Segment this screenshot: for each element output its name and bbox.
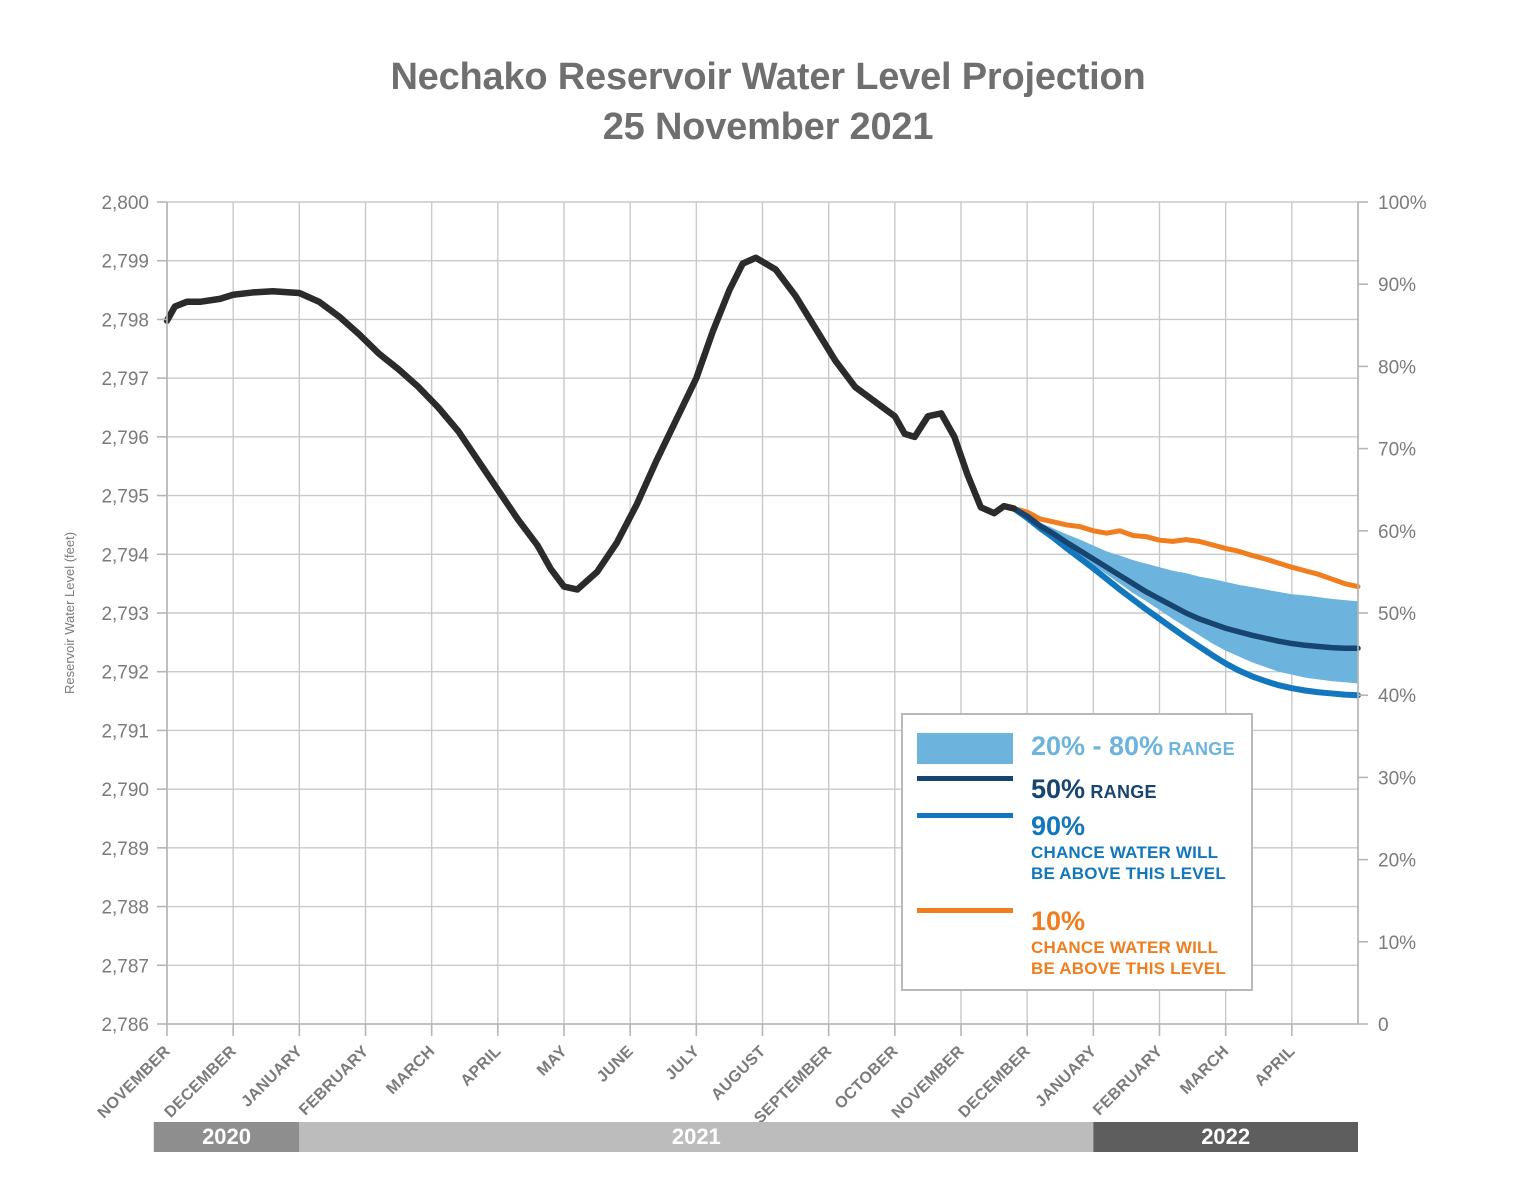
legend-item-chance-90: 90%CHANCE WATER WILLBE ABOVE THIS LEVEL [903,813,1251,884]
y-axis-tick-label-right: 10% [1378,933,1416,954]
x-axis-month-label: APRIL [1252,1043,1299,1090]
y-axis-tick-label-left: 2,790 [101,780,149,801]
y-axis-tick-label-right: 20% [1378,851,1416,872]
y-axis-title: Reservoir Water Level (feet) [62,532,77,694]
x-axis-month-label: MARCH [383,1043,438,1098]
legend-sub-chance-90-1: BE ABOVE THIS LEVEL [1031,864,1226,885]
x-axis-month-label: JANUARY [238,1043,306,1111]
y-axis-tick-label-left: 2,786 [101,1015,149,1036]
y-axis-tick-label-right: 100% [1378,193,1427,214]
y-axis-tick-label-left: 2,794 [101,545,149,566]
legend-item-range-50: 50% RANGE [903,776,1251,803]
y-axis-tick-label-right: 30% [1378,768,1416,789]
y-axis-tick-label-left: 2,793 [101,604,149,625]
y-axis-tick-label-right: 50% [1378,604,1416,625]
y-axis-tick-label-left: 2,789 [101,839,149,860]
y-axis-tick-label-right: 90% [1378,275,1416,296]
y-axis-tick-label-right: 60% [1378,522,1416,543]
legend-swatch-chance-90 [917,813,1025,818]
legend-sub-chance-10-1: BE ABOVE THIS LEVEL [1031,959,1226,980]
legend-swatch-range-50 [917,776,1025,781]
year-bar-label: 2020 [202,1124,251,1149]
legend-head-chance-90: 90% [1031,813,1226,840]
y-axis-tick-label-left: 2,795 [101,487,149,508]
x-axis-month-label: JULY [662,1043,703,1084]
legend-head-main: 50% [1031,774,1085,804]
band-swatch-icon [917,733,1013,764]
legend-swatch-chance-10 [917,908,1025,913]
y-axis-tick-label-left: 2,791 [101,721,149,742]
x-axis-month-label: FEBRUARY [1090,1043,1166,1119]
y-axis-tick-label-right: 0 [1378,1015,1389,1036]
legend-swatch-range-20-80 [917,733,1025,764]
chart-root: Nechako Reservoir Water Level Projection… [0,0,1536,1187]
legend-text-range-50: 50% RANGE [1025,776,1157,803]
chart-title: Nechako Reservoir Water Level Projection… [0,52,1536,152]
legend-head-range-20-80: 20% - 80% RANGE [1031,733,1235,760]
chart-legend: 20% - 80% RANGE50% RANGE90%CHANCE WATER … [901,713,1253,991]
legend-head-main: 20% - 80% [1031,731,1163,761]
y-axis-tick-label-left: 2,796 [101,428,149,449]
legend-item-chance-10: 10%CHANCE WATER WILLBE ABOVE THIS LEVEL [903,908,1251,979]
x-axis-month-label: AUGUST [708,1043,769,1104]
y-axis-tick-label-left: 2,800 [101,193,149,214]
x-axis-month-label: OCTOBER [832,1043,902,1113]
year-bar-label: 2021 [672,1124,721,1149]
band-20-80-fill [1014,508,1358,683]
y-axis-tick-label-right: 40% [1378,686,1416,707]
legend-head-chance-10: 10% [1031,908,1226,935]
legend-text-chance-10: 10%CHANCE WATER WILLBE ABOVE THIS LEVEL [1025,908,1226,979]
legend-head-main: 90% [1031,811,1085,841]
y-axis-tick-label-right: 70% [1378,440,1416,461]
legend-text-chance-90: 90%CHANCE WATER WILLBE ABOVE THIS LEVEL [1025,813,1226,884]
legend-sub-chance-10-0: CHANCE WATER WILL [1031,938,1226,959]
y-axis-tick-label-left: 2,799 [101,252,149,273]
x-axis-month-label: MARCH [1177,1043,1232,1098]
x-axis-month-label: JUNE [594,1043,637,1086]
legend-item-range-20-80: 20% - 80% RANGE [903,733,1251,764]
x-axis-month-label: FEBRUARY [296,1043,372,1119]
chart-title-line2: 25 November 2021 [0,102,1536,152]
plot-area: 2,8002,7992,7982,7972,7962,7952,7942,793… [0,0,1536,1187]
line-swatch-icon [917,813,1013,818]
y-axis-tick-label-left: 2,798 [101,310,149,331]
y-axis-tick-label-left: 2,792 [101,663,149,684]
y-axis-tick-label-left: 2,797 [101,369,149,390]
x-axis-month-label: JANUARY [1032,1043,1100,1111]
y-axis-tick-label-left: 2,788 [101,898,149,919]
y-axis-tick-label-right: 80% [1378,357,1416,378]
legend-head-range-50: 50% RANGE [1031,776,1157,803]
line-swatch-icon [917,908,1013,913]
legend-rows: 20% - 80% RANGE50% RANGE90%CHANCE WATER … [903,715,1251,989]
legend-head-main: 10% [1031,906,1085,936]
line-swatch-icon [917,776,1013,781]
year-bar-label: 2022 [1201,1124,1250,1149]
chart-title-line1: Nechako Reservoir Water Level Projection [390,56,1145,98]
legend-sub-chance-90-0: CHANCE WATER WILL [1031,843,1226,864]
legend-head-suffix: RANGE [1163,739,1235,759]
y-axis-tick-label-left: 2,787 [101,956,149,977]
x-axis-month-label: APRIL [458,1043,505,1090]
x-axis-month-label: MAY [534,1043,571,1080]
legend-head-suffix: RANGE [1085,782,1157,802]
legend-text-range-20-80: 20% - 80% RANGE [1025,733,1235,760]
series-line [167,258,1014,590]
